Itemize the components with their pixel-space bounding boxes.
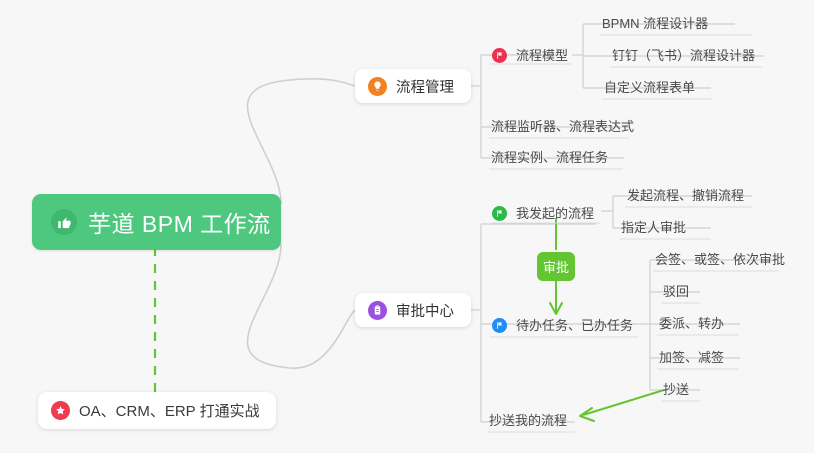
flag-icon xyxy=(492,48,507,63)
node-label: 自定义流程表单 xyxy=(604,81,695,94)
branch-process-management[interactable]: 流程管理 xyxy=(355,69,471,103)
branch-label: 审批中心 xyxy=(396,300,454,321)
approve-annotation-label: 审批 xyxy=(543,257,569,276)
node-delegate-transfer[interactable]: 委派、转办 xyxy=(657,312,724,334)
node-add-remove-sign[interactable]: 加签、减签 xyxy=(657,346,724,368)
node-label: 钉钉（飞书）流程设计器 xyxy=(612,49,755,62)
node-label: BPMN 流程设计器 xyxy=(602,17,708,30)
star-icon xyxy=(51,401,70,420)
node-custom-form[interactable]: 自定义流程表单 xyxy=(602,76,695,98)
node-label: 待办任务、已办任务 xyxy=(516,319,633,332)
flag-icon xyxy=(492,318,507,333)
node-label: 会签、或签、依次审批 xyxy=(655,253,785,266)
flag-icon xyxy=(492,206,507,221)
node-label: 抄送我的流程 xyxy=(489,414,567,427)
approve-annotation: 审批 xyxy=(537,252,575,281)
node-label: 指定人审批 xyxy=(621,221,686,234)
node-label: 流程实例、流程任务 xyxy=(491,151,608,164)
node-process-model[interactable]: 流程模型 xyxy=(492,44,568,66)
node-carbon-copy[interactable]: 抄送 xyxy=(661,378,689,400)
clipboard-icon xyxy=(368,301,387,320)
arrowhead-cc xyxy=(580,408,594,421)
node-my-started-processes[interactable]: 我发起的流程 xyxy=(492,202,594,224)
thumbs-up-icon xyxy=(51,209,77,235)
node-dingtalk-designer[interactable]: 钉钉（飞书）流程设计器 xyxy=(610,44,755,66)
node-instance-task[interactable]: 流程实例、流程任务 xyxy=(489,146,608,168)
node-todo-done-tasks[interactable]: 待办任务、已办任务 xyxy=(492,314,633,336)
node-bpmn-designer[interactable]: BPMN 流程设计器 xyxy=(600,12,708,34)
wire-cc-link xyxy=(583,390,664,415)
integration-card-label: OA、CRM、ERP 打通实战 xyxy=(79,400,260,421)
node-label: 发起流程、撤销流程 xyxy=(627,189,744,202)
node-label: 流程监听器、流程表达式 xyxy=(491,120,634,133)
integration-card[interactable]: OA、CRM、ERP 打通实战 xyxy=(38,392,276,429)
node-label: 流程模型 xyxy=(516,49,568,62)
branch-label: 流程管理 xyxy=(396,76,454,97)
root-node[interactable]: 芋道 BPM 工作流 xyxy=(32,194,281,250)
root-label: 芋道 BPM 工作流 xyxy=(88,205,271,239)
wire-root-to-approval xyxy=(248,244,355,368)
node-label: 驳回 xyxy=(663,285,689,298)
node-countersign[interactable]: 会签、或签、依次审批 xyxy=(653,248,785,270)
arrowhead-approve xyxy=(550,303,562,314)
mindmap-canvas: 芋道 BPM 工作流 流程管理 流程模型 BPMN 流程设计器 钉钉（飞书）流程… xyxy=(0,0,814,453)
branch-approval-center[interactable]: 审批中心 xyxy=(355,293,471,327)
node-start-cancel-process[interactable]: 发起流程、撤销流程 xyxy=(625,184,744,206)
node-assignee-approval[interactable]: 指定人审批 xyxy=(619,216,686,238)
node-label: 抄送 xyxy=(663,383,689,396)
node-label: 加签、减签 xyxy=(659,351,724,364)
node-label: 委派、转办 xyxy=(659,317,724,330)
node-reject[interactable]: 驳回 xyxy=(661,280,689,302)
lightbulb-icon xyxy=(368,77,387,96)
node-label: 我发起的流程 xyxy=(516,207,594,220)
wire-root-to-process xyxy=(248,79,355,204)
node-cc-to-me[interactable]: 抄送我的流程 xyxy=(487,409,567,431)
node-listener-expression[interactable]: 流程监听器、流程表达式 xyxy=(489,115,634,137)
